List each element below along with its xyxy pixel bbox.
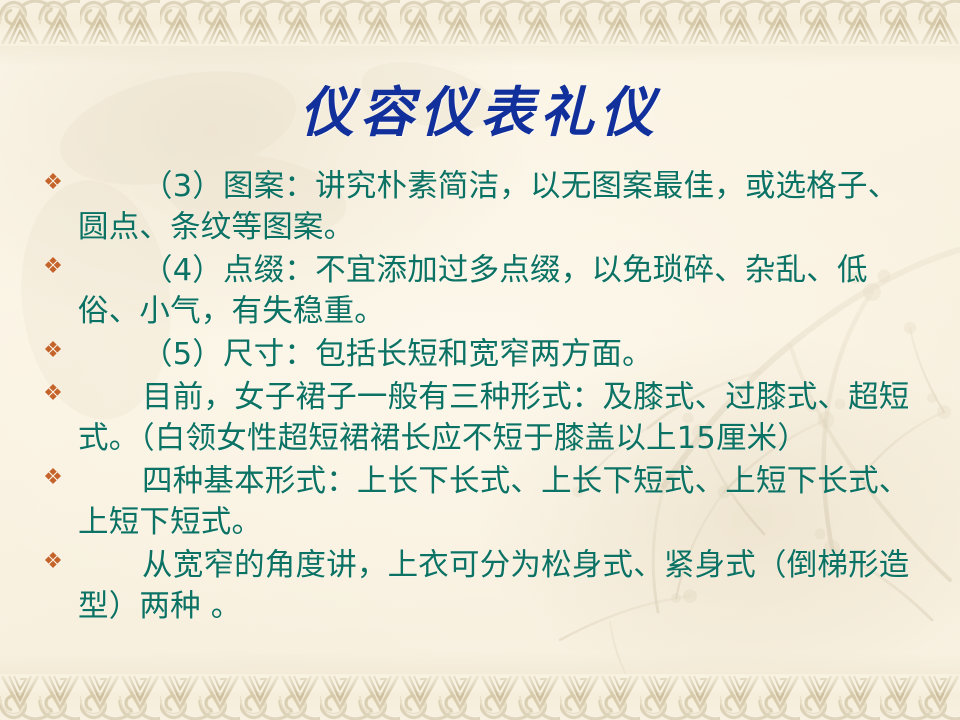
list-item: ❖ （5）尺寸：包括长短和宽窄两方面。 [32,334,928,375]
list-item: ❖ 从宽窄的角度讲，上衣可分为松身式、紧身式（倒梯形造型）两种 。 [32,545,928,627]
diamond-bullet-icon: ❖ [40,383,66,405]
diamond-bullet-icon: ❖ [40,467,66,489]
list-item: ❖ （4）点缀：不宜添加过多点缀，以免琐碎、杂乱、低俗、小气，有失稳重。 [32,250,928,332]
diamond-bullet-icon: ❖ [40,172,66,194]
list-item: ❖ 四种基本形式：上长下长式、上长下短式、上短下长式、上短下短式。 [32,461,928,543]
list-item-text: （3）图案：讲究朴素简洁，以无图案最佳，或选格子、圆点、条纹等图案。 [78,166,928,248]
diamond-bullet-icon: ❖ [40,551,66,573]
list-item-text: （4）点缀：不宜添加过多点缀，以免琐碎、杂乱、低俗、小气，有失稳重。 [78,250,928,332]
diamond-bullet-icon: ❖ [40,340,66,362]
slide-title: 仪容仪表礼仪 [0,84,960,141]
presentation-slide: 仪容仪表礼仪 ❖ （3）图案：讲究朴素简洁，以无图案最佳，或选格子、圆点、条纹等… [0,0,960,720]
list-item-text: 四种基本形式：上长下长式、上长下短式、上短下长式、上短下短式。 [78,461,928,543]
diamond-bullet-icon: ❖ [40,256,66,278]
list-item: ❖ （3）图案：讲究朴素简洁，以无图案最佳，或选格子、圆点、条纹等图案。 [32,166,928,248]
bullet-list: ❖ （3）图案：讲究朴素简洁，以无图案最佳，或选格子、圆点、条纹等图案。 ❖ （… [32,166,928,629]
list-item-text: 从宽窄的角度讲，上衣可分为松身式、紧身式（倒梯形造型）两种 。 [78,545,928,627]
list-item-text: 目前，女子裙子一般有三种形式：及膝式、过膝式、超短式。（白领女性超短裙裙长应不短… [78,377,928,459]
list-item-text: （5）尺寸：包括长短和宽窄两方面。 [78,334,928,375]
list-item: ❖ 目前，女子裙子一般有三种形式：及膝式、过膝式、超短式。（白领女性超短裙裙长应… [32,377,928,459]
